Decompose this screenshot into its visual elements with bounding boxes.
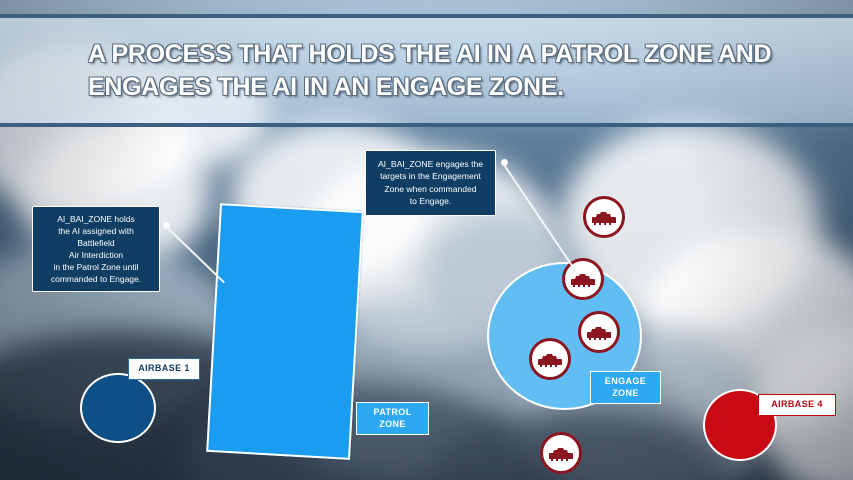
patrol-zone-label-line-1: PATROL <box>374 407 412 417</box>
callout-left-line-2: the AI assigned with <box>38 225 154 237</box>
target-5-tank-icon[interactable] <box>540 432 582 474</box>
tank-icon <box>586 325 612 340</box>
callout-left-line-4: Air Interdiction <box>38 249 154 261</box>
patrol-zone-label: PATROL ZONE <box>356 402 429 435</box>
airbase-1-label: AIRBASE 1 <box>128 358 200 380</box>
page-title: A PROCESS THAT HOLDS THE AI IN A PATROL … <box>88 38 788 105</box>
engage-zone-label: ENGAGE ZONE <box>590 371 661 404</box>
callout-top-line-4: to Engage. <box>372 195 489 207</box>
airbase-1-marker[interactable] <box>80 373 156 443</box>
callout-left-line-5: in the Patrol Zone until <box>38 261 154 273</box>
airbase-4-label: AIRBASE 4 <box>758 394 836 416</box>
target-4-tank-icon[interactable] <box>529 338 571 380</box>
target-2-tank-icon[interactable] <box>562 258 604 300</box>
patrol-zone-shape[interactable] <box>206 203 364 460</box>
patrol-zone-label-line-2: ZONE <box>379 419 406 429</box>
target-3-tank-icon[interactable] <box>578 311 620 353</box>
callout-ai-bai-zone-engages: AI_BAI_ZONE engages the targets in the E… <box>365 150 496 216</box>
title-banner: A PROCESS THAT HOLDS THE AI IN A PATROL … <box>0 14 853 127</box>
tank-icon <box>537 352 563 367</box>
engage-zone-label-line-1: ENGAGE <box>605 376 646 386</box>
callout-ai-bai-zone-holds: AI_BAI_ZONE holds the AI assigned with B… <box>32 206 160 292</box>
slide-canvas: A PROCESS THAT HOLDS THE AI IN A PATROL … <box>0 0 853 480</box>
target-1-tank-icon[interactable] <box>583 196 625 238</box>
callout-left-line-1: AI_BAI_ZONE holds <box>38 213 154 225</box>
callout-left-line-3: Battlefield <box>38 237 154 249</box>
tank-icon <box>570 272 596 287</box>
callout-top-line-2: targets in the Engagement <box>372 170 489 182</box>
callout-top-line-3: Zone when commanded <box>372 183 489 195</box>
tank-icon <box>591 210 617 225</box>
callout-top-line-1: AI_BAI_ZONE engages the <box>372 158 489 170</box>
callout-left-line-6: commanded to Engage. <box>38 273 154 285</box>
tank-icon <box>548 446 574 461</box>
engage-zone-label-line-2: ZONE <box>612 388 639 398</box>
